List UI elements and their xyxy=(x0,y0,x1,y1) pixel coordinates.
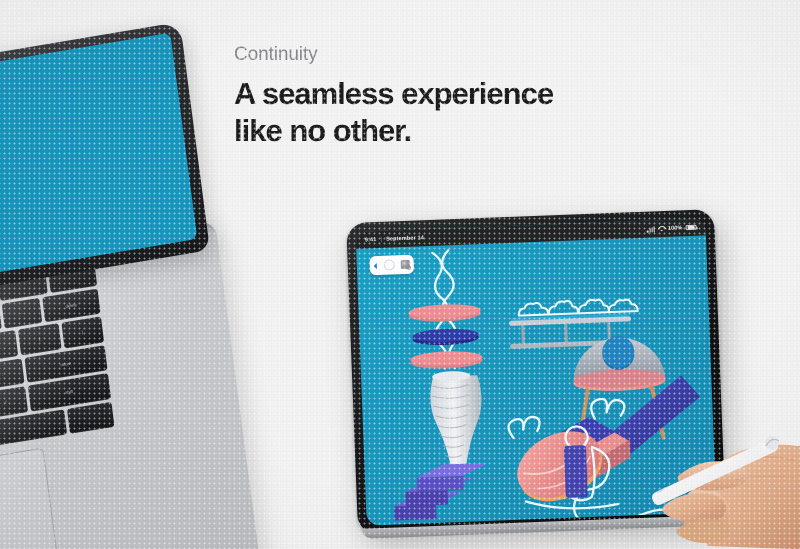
key-space[interactable] xyxy=(0,409,67,452)
macbook-trackpad[interactable] xyxy=(0,447,62,549)
eyebrow-label: Continuity xyxy=(234,42,553,68)
ring-finger xyxy=(676,519,730,543)
key-arrows[interactable] xyxy=(67,401,114,433)
battery-icon xyxy=(685,224,696,230)
key-bracket-right[interactable]: ] xyxy=(61,316,104,348)
key-p[interactable]: P xyxy=(0,330,19,362)
color-circle-icon[interactable] xyxy=(383,259,394,270)
status-time: 9:41 xyxy=(365,237,377,243)
key-slash[interactable]: / xyxy=(0,386,28,418)
status-right: 100% xyxy=(647,224,697,232)
wifi-icon xyxy=(658,225,665,231)
hand-with-stylus xyxy=(648,368,800,549)
battery-percent-label: 100% xyxy=(668,225,683,232)
cellular-bars-icon xyxy=(647,226,655,232)
status-date: September 14 xyxy=(386,235,424,242)
status-separator: | xyxy=(380,236,382,242)
key-minus[interactable]: - xyxy=(2,297,42,328)
copy-block: Continuity A seamless experience like no… xyxy=(234,42,553,149)
macbook-keyboard[interactable]: 6 7 8 9 0 - delete Y U I O P [ ] xyxy=(0,260,114,474)
key-semicolon[interactable]: ; xyxy=(0,358,24,390)
brush-tool-icon[interactable] xyxy=(401,260,410,269)
key-bracket-left[interactable]: [ xyxy=(18,323,61,355)
macbook-device: 6 7 8 9 0 - delete Y U I O P [ ] xyxy=(0,20,255,549)
status-left: 9:41 | September 14 xyxy=(365,235,424,243)
back-chevron-icon[interactable] xyxy=(374,263,377,269)
app-toolbar-pill[interactable] xyxy=(369,255,414,276)
page-title: A seamless experience like no other. xyxy=(234,75,553,149)
screenshot-stage: 6 7 8 9 0 - delete Y U I O P [ ] xyxy=(0,0,800,549)
